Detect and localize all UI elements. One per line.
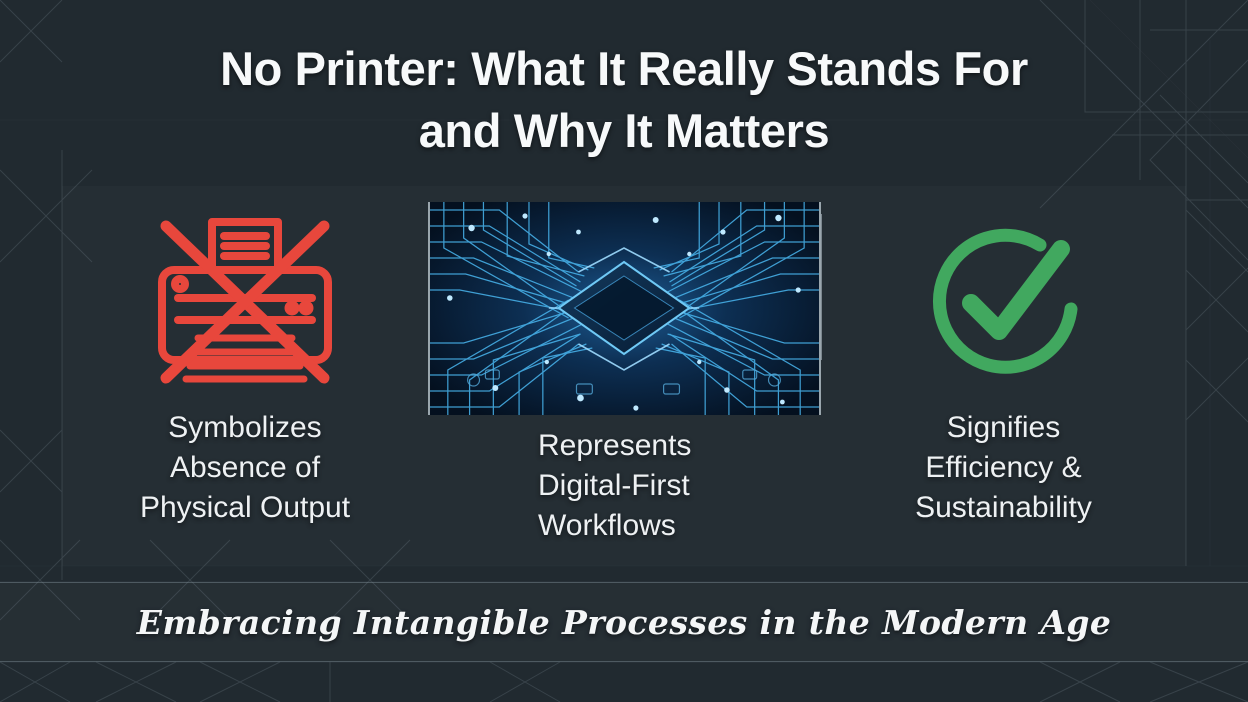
green-check-circle-icon bbox=[919, 221, 1089, 381]
caption-absence-line-2: Absence of bbox=[70, 448, 420, 488]
slide-title: No Printer: What It Really Stands For an… bbox=[0, 38, 1248, 162]
feature-column-efficiency: Signifies Efficiency & Sustainability bbox=[821, 186, 1186, 566]
caption-digital-line-3: Workflows bbox=[538, 506, 813, 546]
caption-absence-line-1: Symbolizes bbox=[70, 408, 420, 448]
caption-efficiency: Signifies Efficiency & Sustainability bbox=[821, 408, 1186, 529]
column-divider-right bbox=[820, 214, 822, 360]
caption-efficiency-line-3: Sustainability bbox=[829, 488, 1178, 528]
feature-column-absence: Symbolizes Absence of Physical Output bbox=[62, 186, 428, 566]
caption-digital-line-2: Digital-First bbox=[538, 466, 813, 506]
printer-icon-area bbox=[62, 186, 428, 416]
caption-efficiency-line-2: Efficiency & bbox=[829, 448, 1178, 488]
caption-digital-line-1: Represents bbox=[538, 426, 813, 466]
slide-title-line-1: No Printer: What It Really Stands For bbox=[90, 38, 1158, 100]
printer-crossed-out-icon bbox=[152, 216, 338, 386]
column-divider-left bbox=[428, 214, 430, 360]
caption-absence-line-3: Physical Output bbox=[70, 488, 420, 528]
check-icon-area bbox=[821, 186, 1186, 416]
slide-canvas: No Printer: What It Really Stands For an… bbox=[0, 0, 1248, 702]
footer-tagline: Embracing Intangible Processes in the Mo… bbox=[137, 603, 1111, 642]
footer-band: Embracing Intangible Processes in the Mo… bbox=[0, 582, 1248, 662]
caption-digital: Represents Digital-First Workflows bbox=[428, 426, 821, 547]
circuit-board-chip-image bbox=[428, 202, 821, 415]
caption-efficiency-line-1: Signifies bbox=[829, 408, 1178, 448]
slide-title-line-2: and Why It Matters bbox=[90, 100, 1158, 162]
caption-absence: Symbolizes Absence of Physical Output bbox=[62, 408, 428, 529]
